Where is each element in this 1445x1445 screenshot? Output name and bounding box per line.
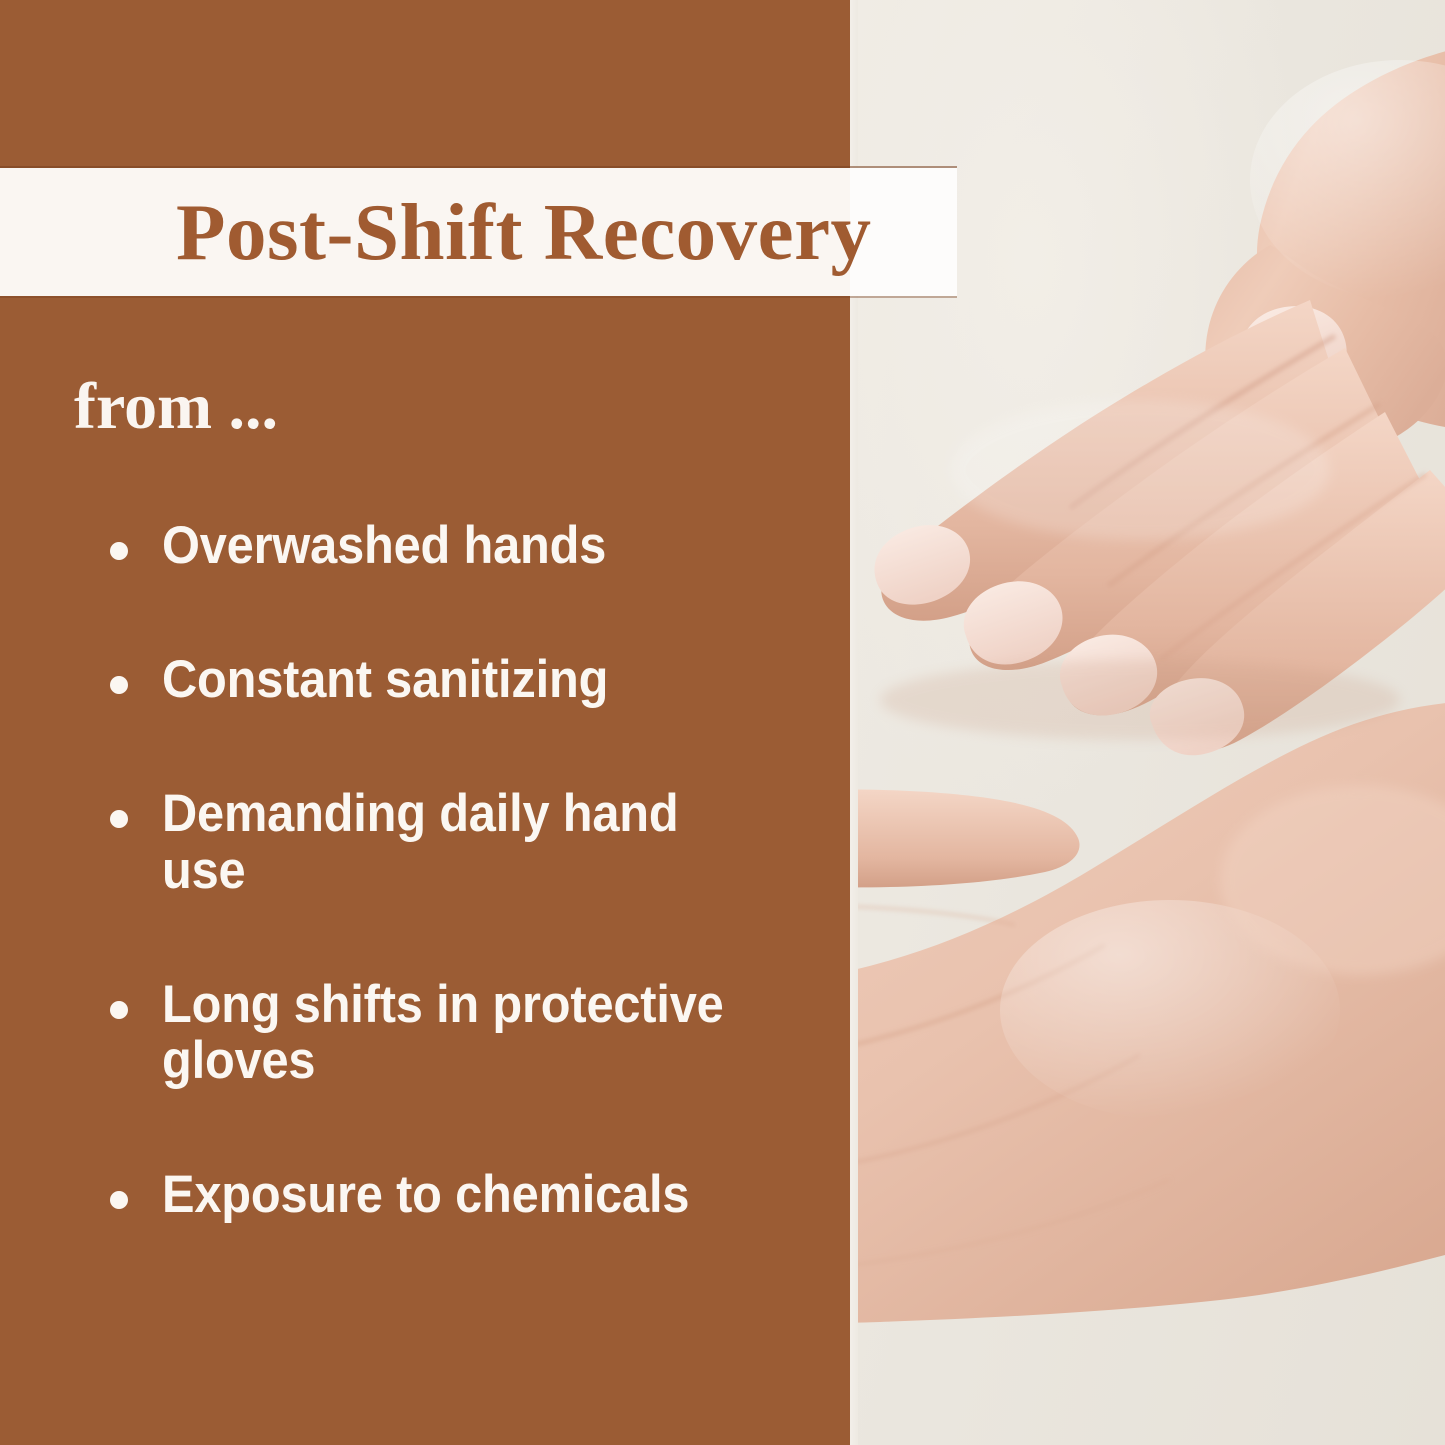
list-item-label: Constant sanitizing — [162, 652, 740, 708]
title-band: Post-Shift Recovery — [0, 168, 957, 296]
list-item-label: Exposure to chemicals — [162, 1167, 740, 1223]
bullet-dot-icon — [110, 1001, 128, 1019]
bullet-dot-icon — [110, 542, 128, 560]
list-item: Exposure to chemicals — [100, 1167, 790, 1223]
page-title: Post-Shift Recovery — [176, 168, 872, 296]
bullet-dot-icon — [110, 676, 128, 694]
list-item: Long shifts in protective gloves — [100, 977, 790, 1089]
poster-root: Post-Shift Recovery from ... Overwashed … — [0, 0, 1445, 1445]
bullet-dot-icon — [110, 1191, 128, 1209]
lower-hand — [850, 700, 1445, 1323]
list-item-label: Long shifts in protective gloves — [162, 977, 740, 1089]
list-item: Overwashed hands — [100, 518, 790, 574]
list-item: Constant sanitizing — [100, 652, 790, 708]
list-item-label: Demanding daily hand use — [162, 786, 740, 898]
list-item: Demanding daily hand use — [100, 786, 790, 898]
contact-shadow — [880, 660, 1400, 740]
concerns-list: Overwashed hands Constant sanitizing Dem… — [100, 518, 790, 1223]
list-item-label: Overwashed hands — [162, 518, 740, 574]
upper-hand — [874, 40, 1445, 755]
bullet-dot-icon — [110, 810, 128, 828]
intro-label: from ... — [74, 374, 278, 440]
